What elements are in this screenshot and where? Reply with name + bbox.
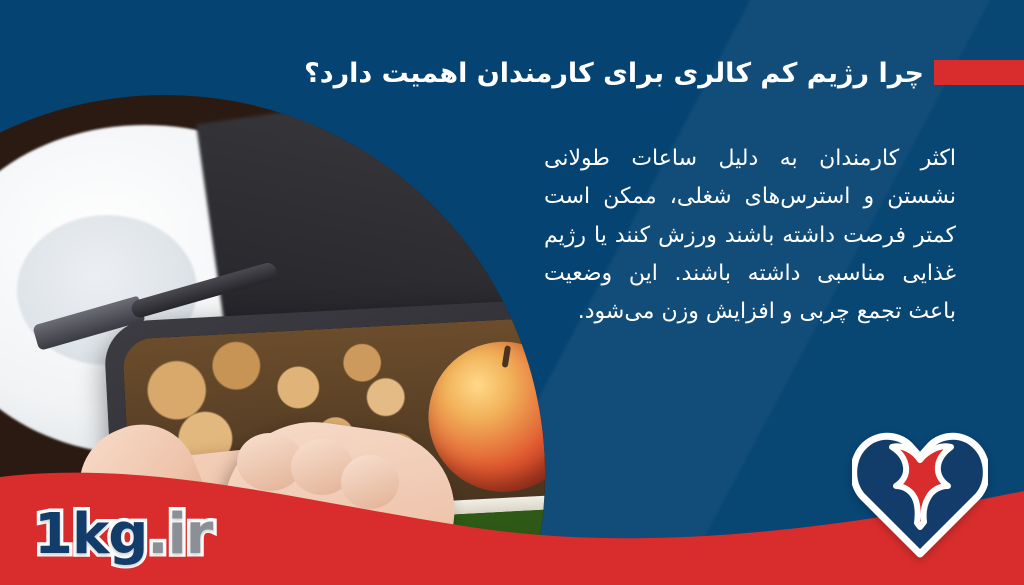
infographic-banner: چرا رژیم کم کالری برای کارمندان اهمیت دا…: [0, 0, 1024, 585]
site-logo[interactable]: 1kg.ir: [34, 507, 212, 563]
logo-primary: 1kg: [34, 502, 147, 567]
body-paragraph: اکثر کارمندان به دلیل ساعات طولانی نشستن…: [544, 140, 956, 331]
heart-biceps-icon: [852, 426, 988, 558]
logo-suffix: .ir: [147, 502, 212, 567]
red-accent-bar: [934, 60, 1024, 85]
page-title: چرا رژیم کم کالری برای کارمندان اهمیت دا…: [224, 56, 924, 92]
